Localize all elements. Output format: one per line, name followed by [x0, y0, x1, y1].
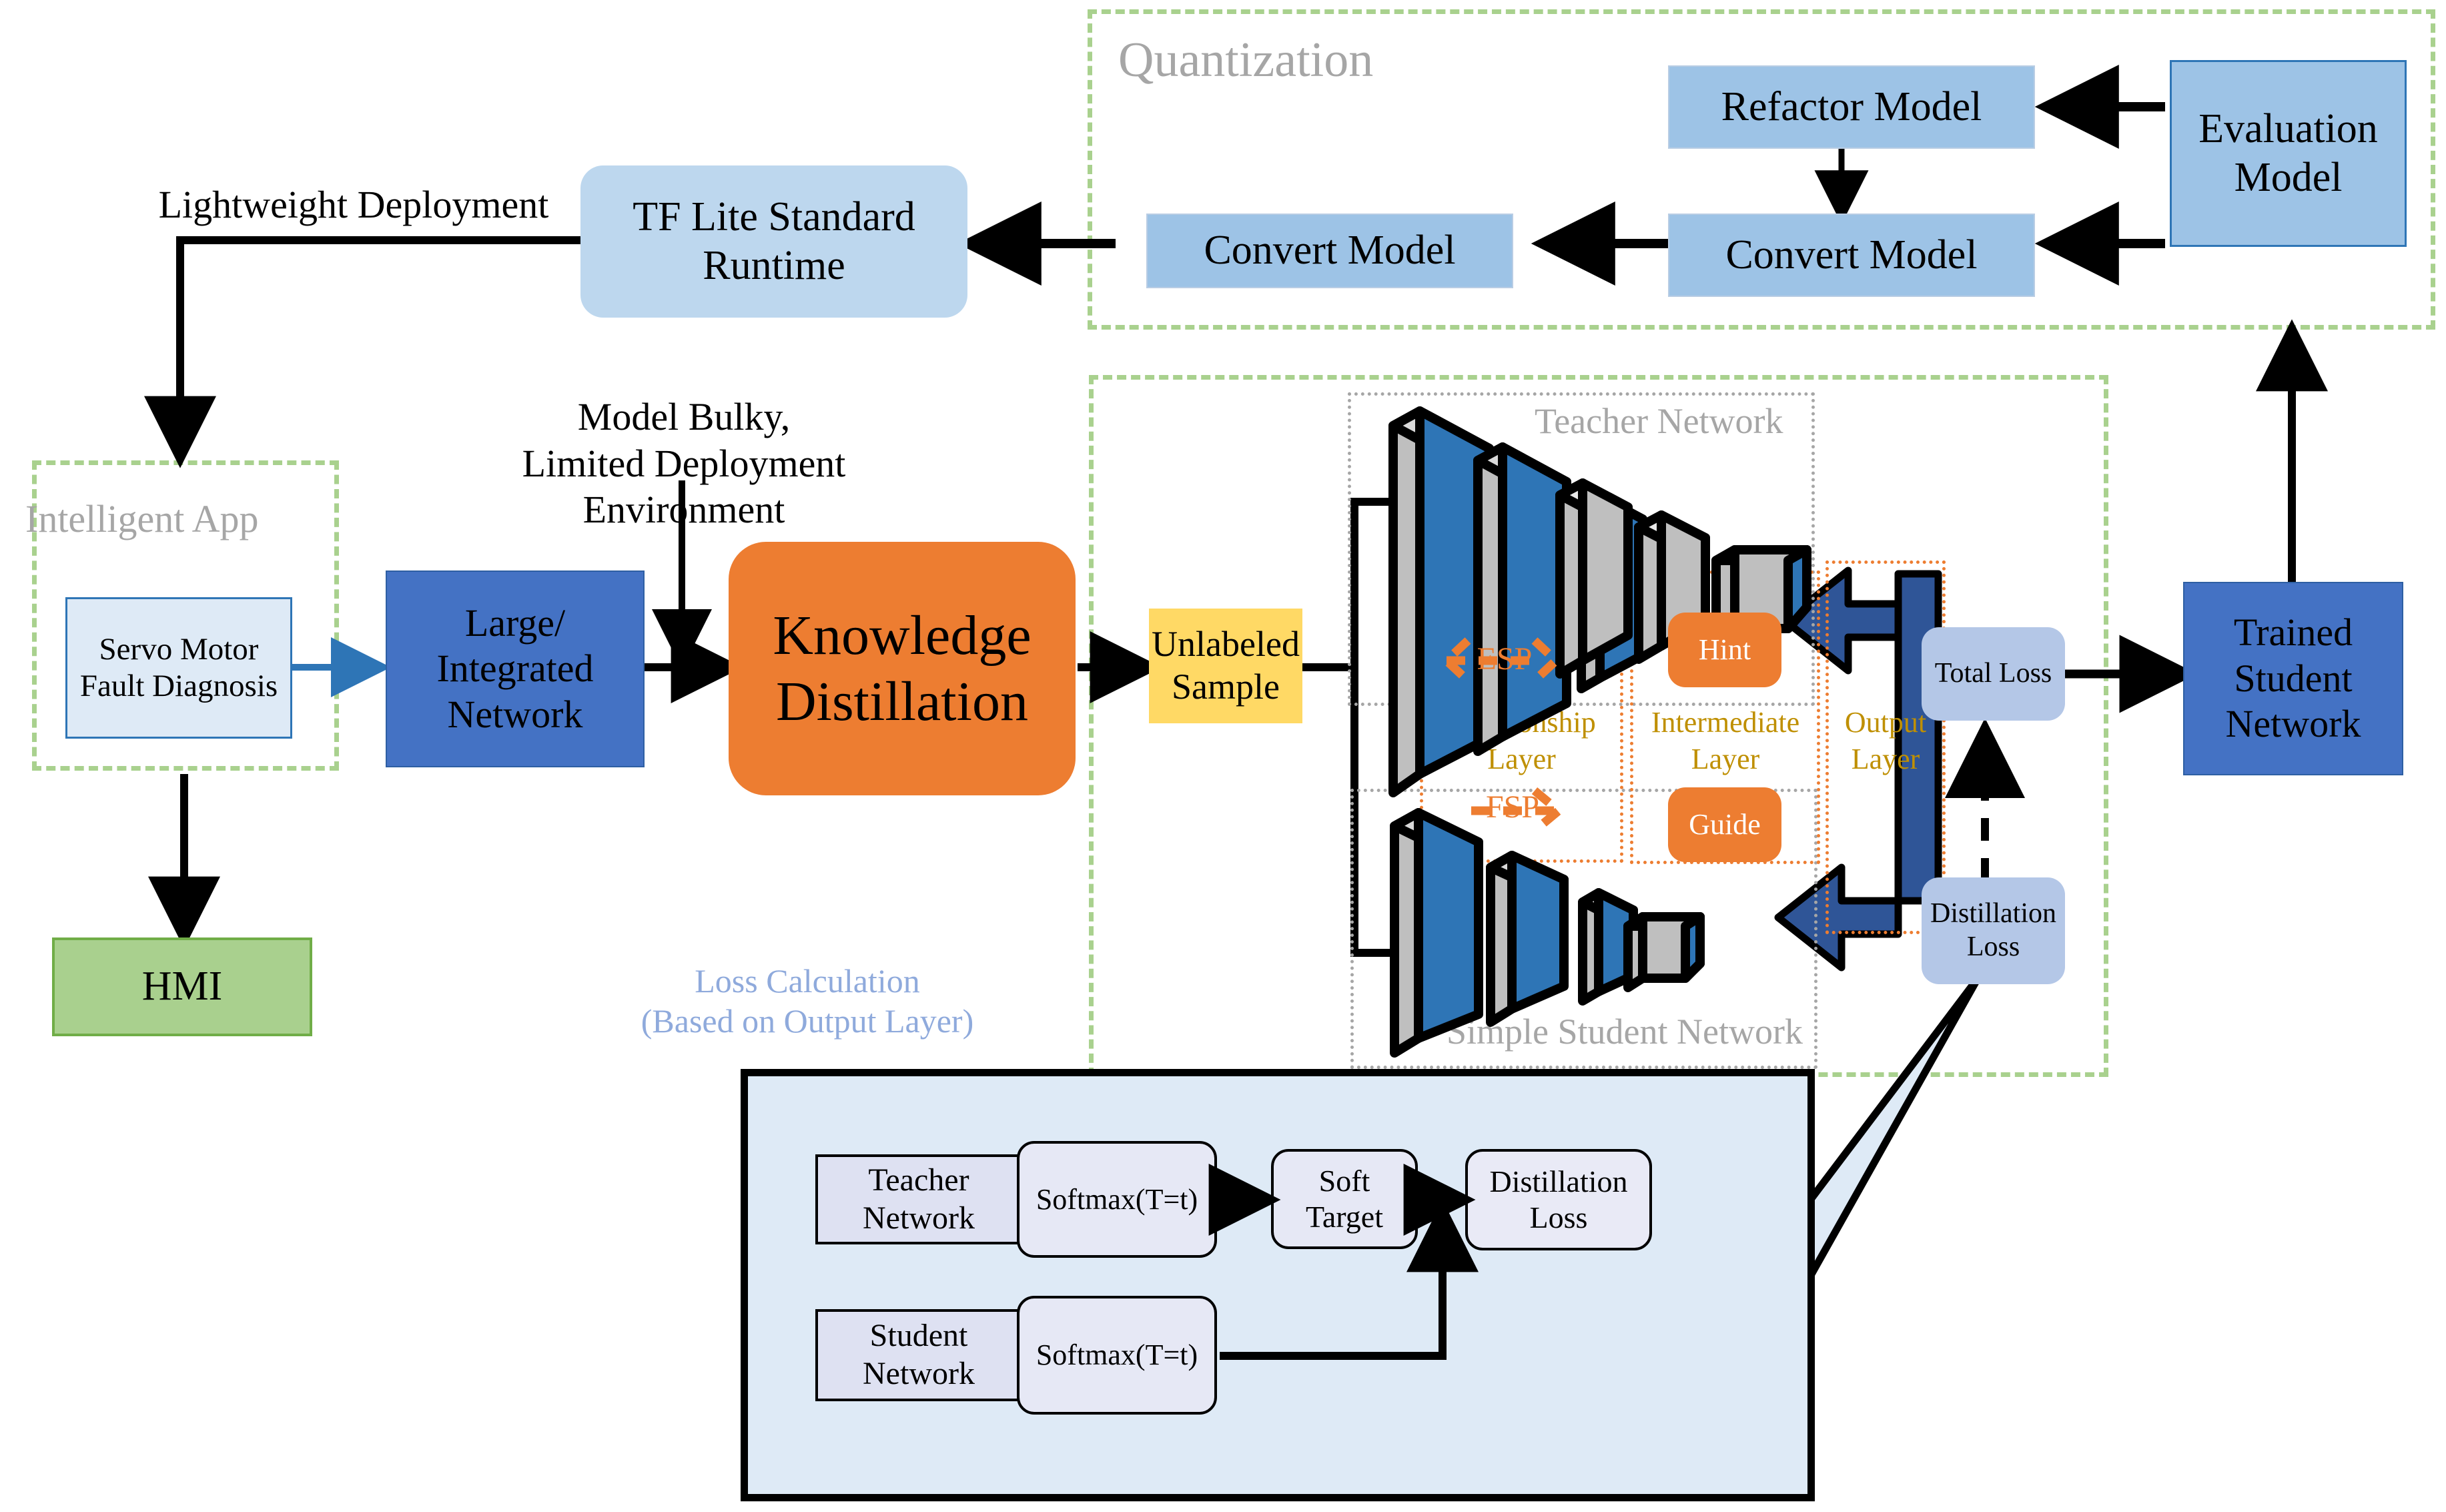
loss-panel-connectors: [0, 0, 2446, 1512]
diagram-canvas: Quantization Intelligent App: [0, 0, 2446, 1512]
